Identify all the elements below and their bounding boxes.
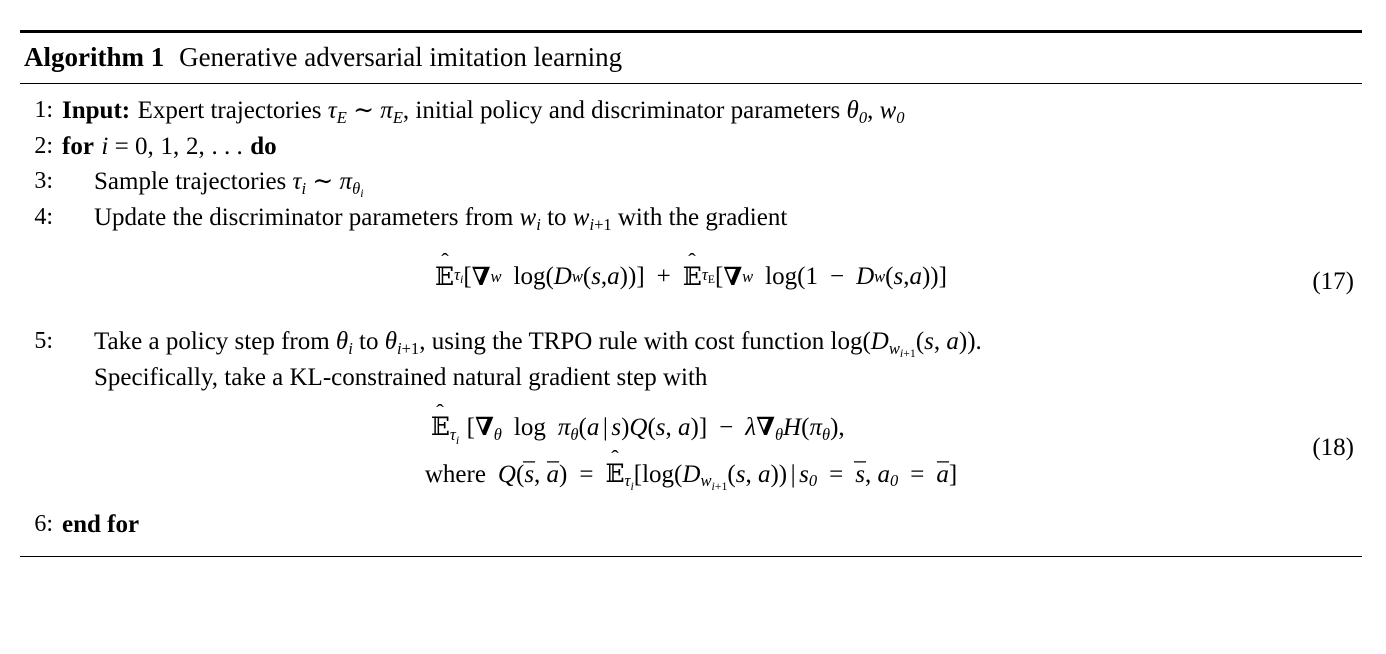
step-number-1: 1:	[20, 93, 62, 127]
step-content-2: fori = 0, 1, 2, . . .do	[62, 129, 1362, 165]
algorithm-title-keyword: Algorithm 1	[24, 42, 164, 72]
equation-tag-18: (18)	[1312, 434, 1354, 462]
step-6-keyword: end for	[62, 511, 139, 538]
algorithm-bottom-rule	[20, 556, 1362, 557]
equation-18-line-b: whereQ(̅s, ̅a)=ˆ𝔼τi[log(Dwi+1(s, a))|s0=…	[425, 459, 957, 493]
step-1-keyword: Input:	[62, 97, 130, 124]
step-content-3: Sample trajectories τi ∼ πθi	[62, 164, 1362, 200]
step-number-4: 4:	[20, 200, 62, 234]
equation-18-block: ˆ𝔼τi[∇θlogπθ(a|s)Q(s, a)]−λ∇θH(πθ), wher…	[20, 395, 1362, 500]
equation-17: ˆ𝔼τi[∇wlog(Dw(s, a))]+ˆ𝔼τE[∇wlog(1−Dw(s,…	[20, 262, 1362, 292]
equation-18: ˆ𝔼τi[∇θlogπθ(a|s)Q(s, a)]−λ∇θH(πθ), wher…	[20, 412, 1362, 492]
step-content-4: Update the discriminator parameters from…	[62, 200, 1362, 236]
equation-17-block: ˆ𝔼τi[∇wlog(Dw(s, a))]+ˆ𝔼τE[∇wlog(1−Dw(s,…	[20, 236, 1362, 322]
algorithm-step-6: 6: end for	[20, 501, 1362, 547]
expectation-hat-tau-i: ˆ𝔼	[435, 262, 454, 292]
step-number-5: 5:	[20, 324, 62, 358]
algorithm-body: 1: Input:Expert trajectories τE ∼ πE, in…	[20, 84, 1362, 556]
algorithm-step-2: 2: fori = 0, 1, 2, . . .do	[20, 129, 1362, 165]
step-number-3: 3:	[20, 164, 62, 198]
step-2-keyword-for: for	[62, 133, 94, 160]
step-content-5: Take a policy step from θi to θi+1, usin…	[62, 324, 1362, 360]
algorithm-title-text: Generative adversarial imitation learnin…	[179, 42, 622, 72]
algorithm-block: Algorithm 1 Generative adversarial imita…	[20, 30, 1362, 557]
algorithm-step-5: 5: Take a policy step from θi to θi+1, u…	[20, 322, 1362, 360]
step-number-6: 6:	[20, 507, 62, 541]
step-content-1: Input:Expert trajectories τE ∼ πE, initi…	[62, 93, 1362, 129]
algorithm-step-4: 4: Update the discriminator parameters f…	[20, 200, 1362, 236]
algorithm-step-3: 3: Sample trajectories τi ∼ πθi	[20, 164, 1362, 200]
step-content-6: end for	[62, 507, 1362, 543]
algorithm-step-5-continuation: Specifically, take a KL-constrained natu…	[20, 360, 1362, 396]
step-number-2: 2:	[20, 129, 62, 163]
equation-tag-17: (17)	[1312, 268, 1354, 296]
equation-18-line-a: ˆ𝔼τi[∇θlogπθ(a|s)Q(s, a)]−λ∇θH(πθ),	[425, 412, 957, 458]
algorithm-step-1: 1: Input:Expert trajectories τE ∼ πE, in…	[20, 93, 1362, 129]
algorithm-title: Algorithm 1 Generative adversarial imita…	[20, 33, 1362, 83]
expectation-hat-tau-E: ˆ𝔼	[683, 262, 702, 292]
step-2-keyword-do: do	[250, 133, 276, 160]
